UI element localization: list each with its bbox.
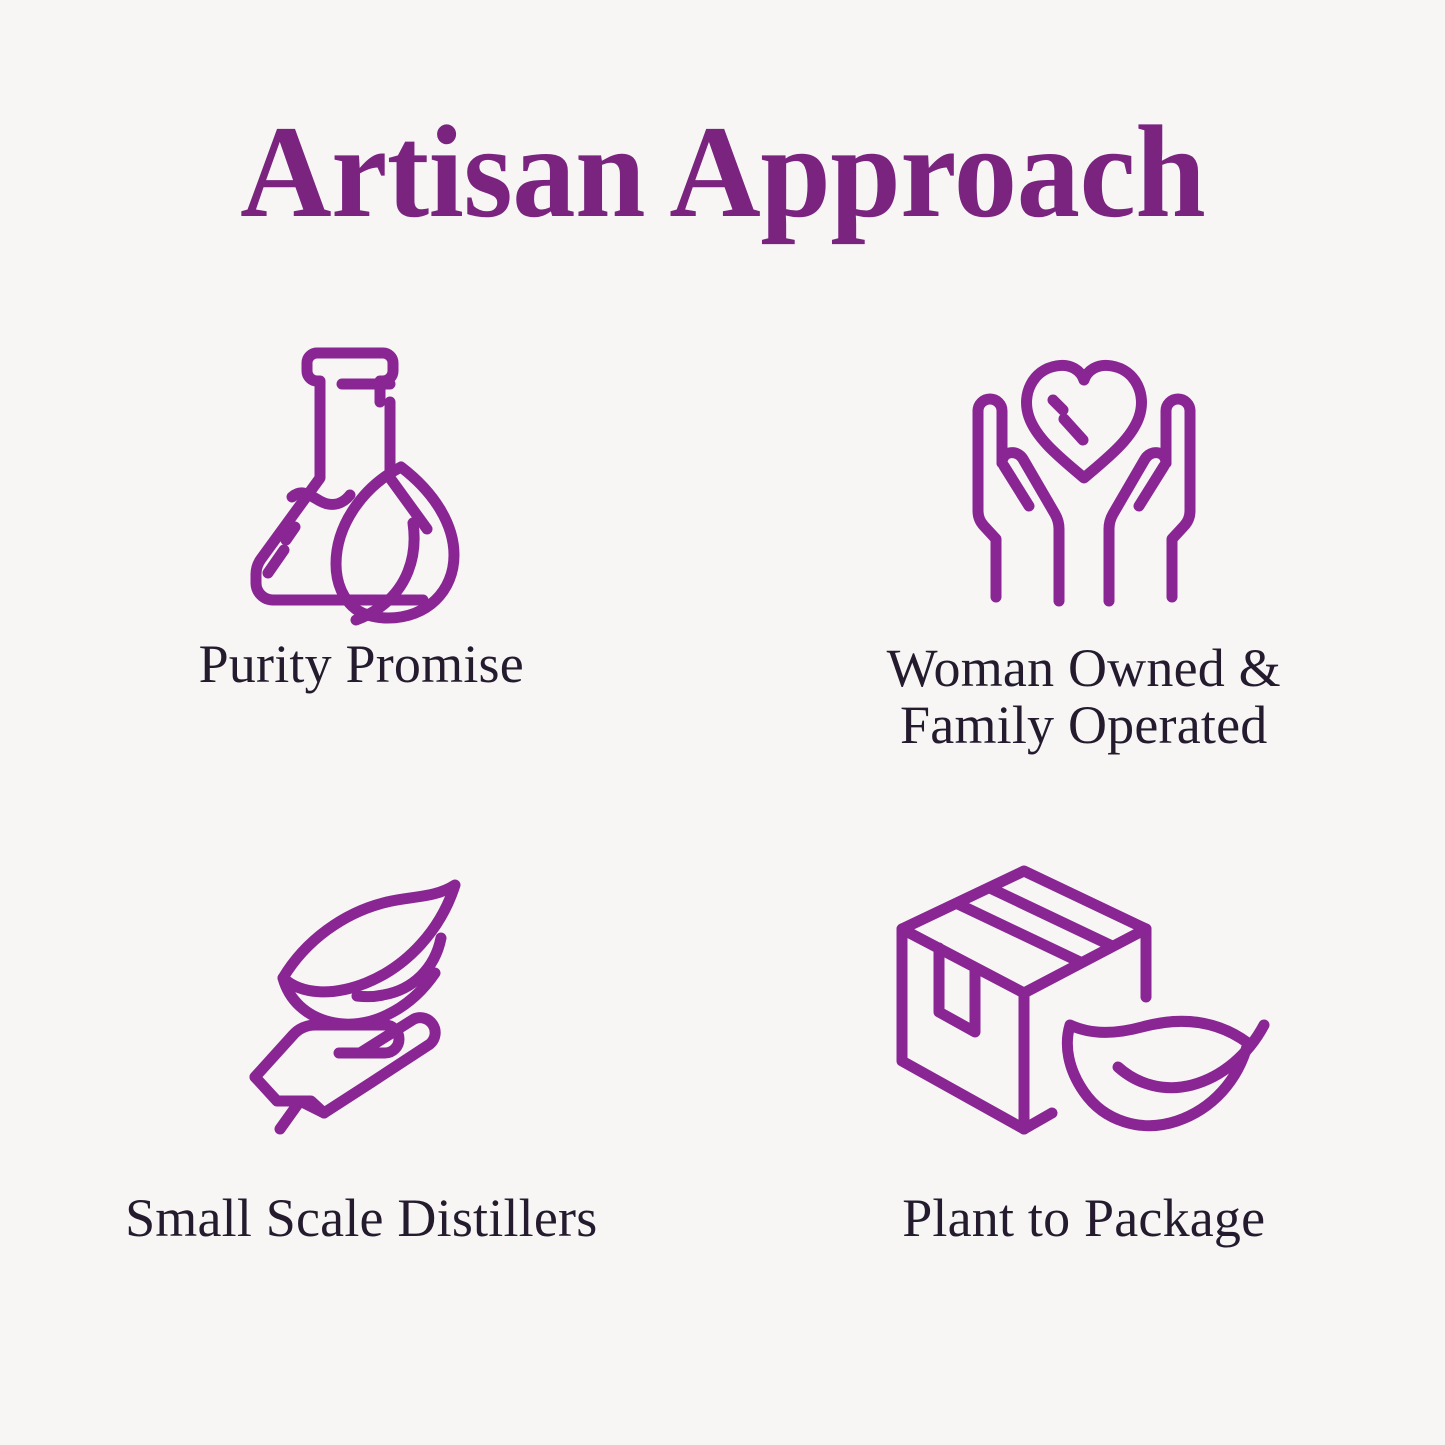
feature-label-purity-promise: Purity Promise [199,636,524,693]
flask-leaf-icon [235,330,487,626]
page-title: Artisan Approach [240,106,1205,238]
feature-item-small-scale-distillers: Small Scale Distillers [0,850,723,1370]
box-leaf-icon [894,850,1274,1142]
hands-holding-heart-icon [941,330,1227,626]
feature-label-small-scale-distillers: Small Scale Distillers [125,1190,597,1247]
feature-item-purity-promise: Purity Promise [0,330,723,850]
artisan-approach-panel: Artisan Approach [0,0,1445,1445]
hand-holding-leaf-icon [245,850,477,1142]
feature-grid: Purity Promise [0,330,1445,1370]
feature-item-woman-owned: Woman Owned & Family Operated [723,330,1445,850]
feature-label-woman-owned: Woman Owned & Family Operated [887,640,1281,754]
feature-label-plant-to-package: Plant to Package [902,1190,1265,1247]
page-title-container: Artisan Approach [0,106,1445,238]
feature-item-plant-to-package: Plant to Package [723,850,1445,1370]
